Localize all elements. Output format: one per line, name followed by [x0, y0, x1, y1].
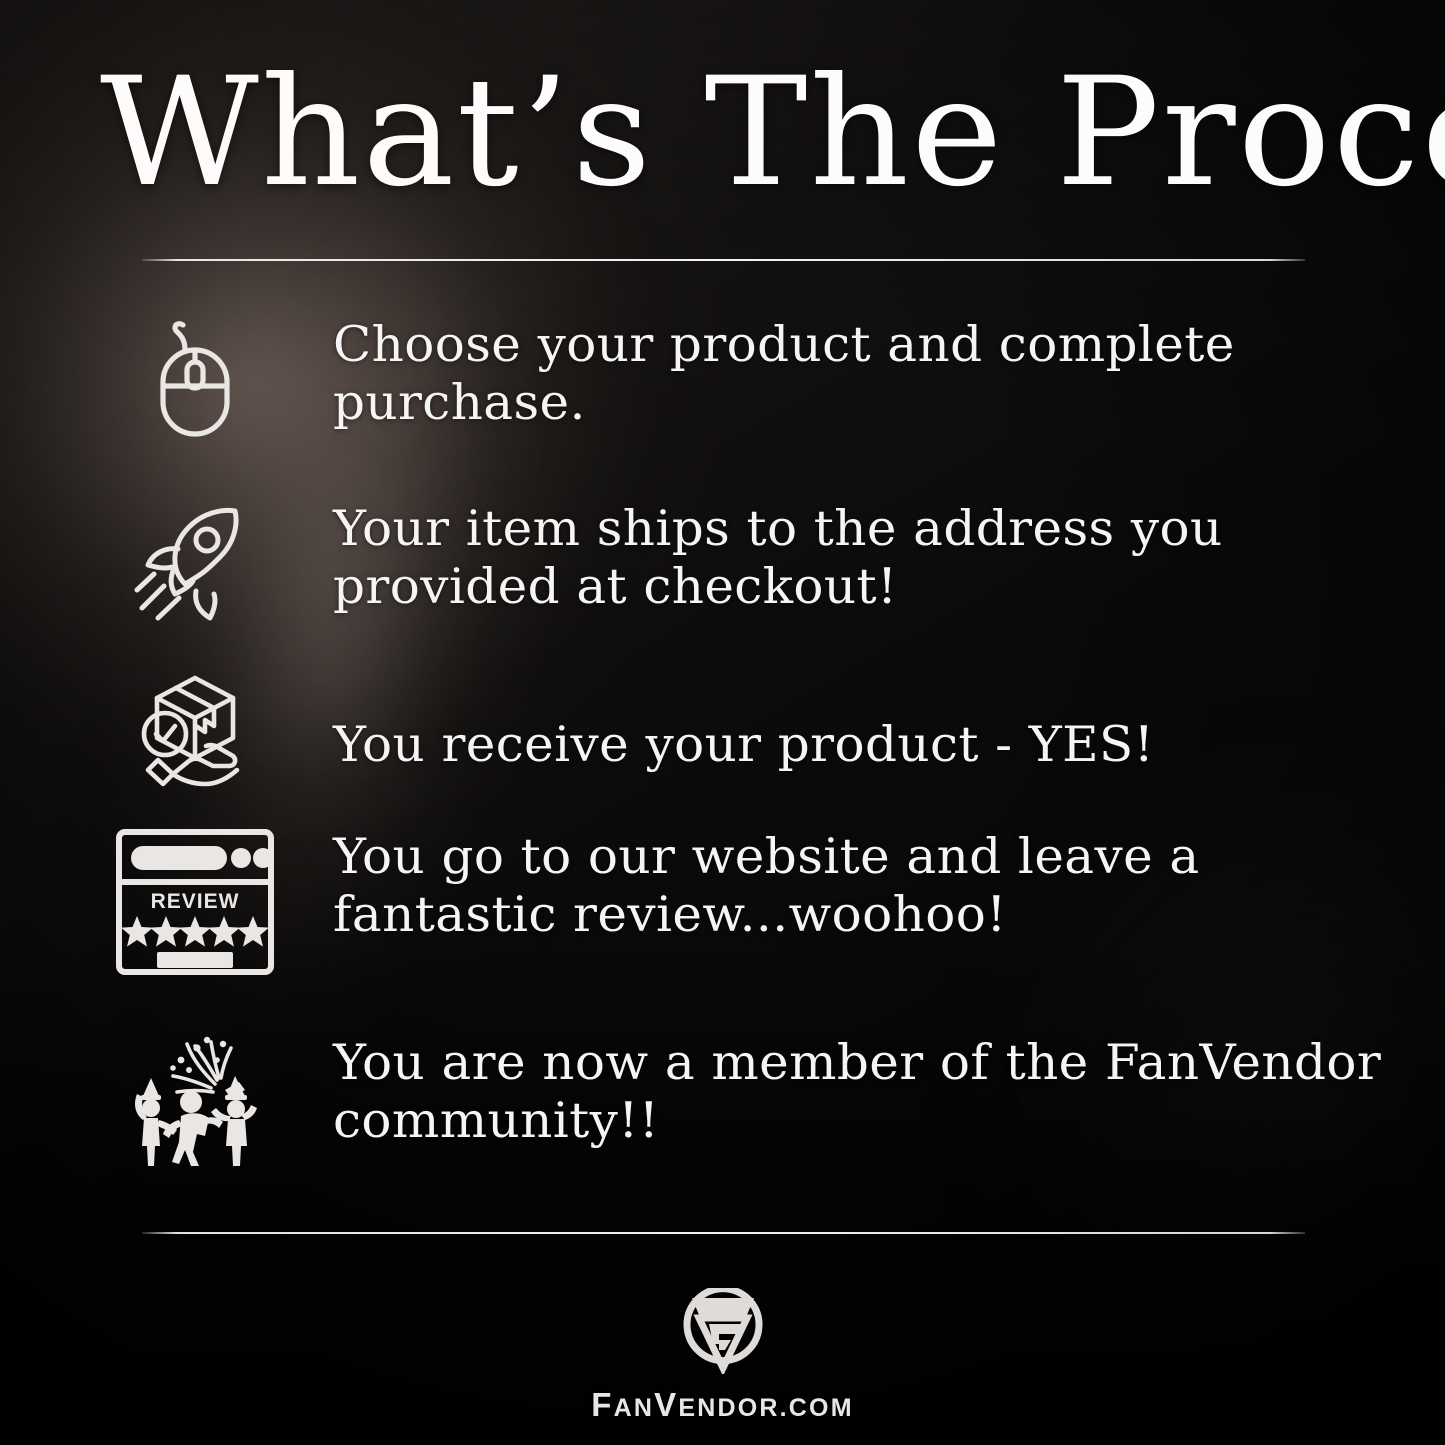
browser-review-stars-icon: REVIEW [110, 828, 280, 976]
brand-letters-an: an [614, 1394, 655, 1422]
list-item-label: You go to our website and leave a fantas… [333, 828, 1421, 944]
celebration-people-confetti-icon [110, 1034, 280, 1170]
package-in-hand-check-icon [110, 668, 280, 788]
computer-mouse-icon [110, 316, 280, 438]
bottom-divider [142, 1232, 1305, 1234]
footer: FanVendor.COM [0, 1288, 1445, 1424]
review-label-text: REVIEW [151, 890, 240, 913]
poster-canvas: What’s The Process Choose your product a… [0, 0, 1445, 1445]
poster-content: What’s The Process Choose your product a… [0, 0, 1445, 1445]
top-divider [142, 259, 1305, 261]
browser-address-bar [131, 846, 227, 870]
browser-submit-bar [157, 952, 233, 968]
list-item-label: Your item ships to the address you provi… [333, 500, 1421, 616]
list-item-label: You are now a member of the FanVendor co… [333, 1034, 1421, 1150]
list-item: Choose your product and complete purchas… [110, 316, 1400, 438]
list-item: Your item ships to the address you provi… [110, 500, 1400, 622]
page-title: What’s The Process [100, 58, 1418, 208]
star-rating [121, 916, 269, 947]
list-item: You are now a member of the FanVendor co… [110, 1034, 1400, 1170]
rocket-icon [110, 500, 280, 622]
brand-letter-v: V [654, 1386, 678, 1423]
brand-dot-com: .COM [780, 1394, 854, 1422]
brand-letters-endor: endor [678, 1394, 779, 1422]
list-item: You receive your product - YES! [110, 668, 1400, 788]
list-item-label: You receive your product - YES! [333, 668, 1421, 774]
fanvendor-shield-logo [675, 1288, 771, 1374]
brand-wordmark: FanVendor.COM [591, 1386, 853, 1424]
list-item: REVIEW You go to our website and [110, 828, 1400, 976]
list-item-label: Choose your product and complete purchas… [333, 316, 1421, 432]
brand-letter-f: F [591, 1386, 613, 1423]
